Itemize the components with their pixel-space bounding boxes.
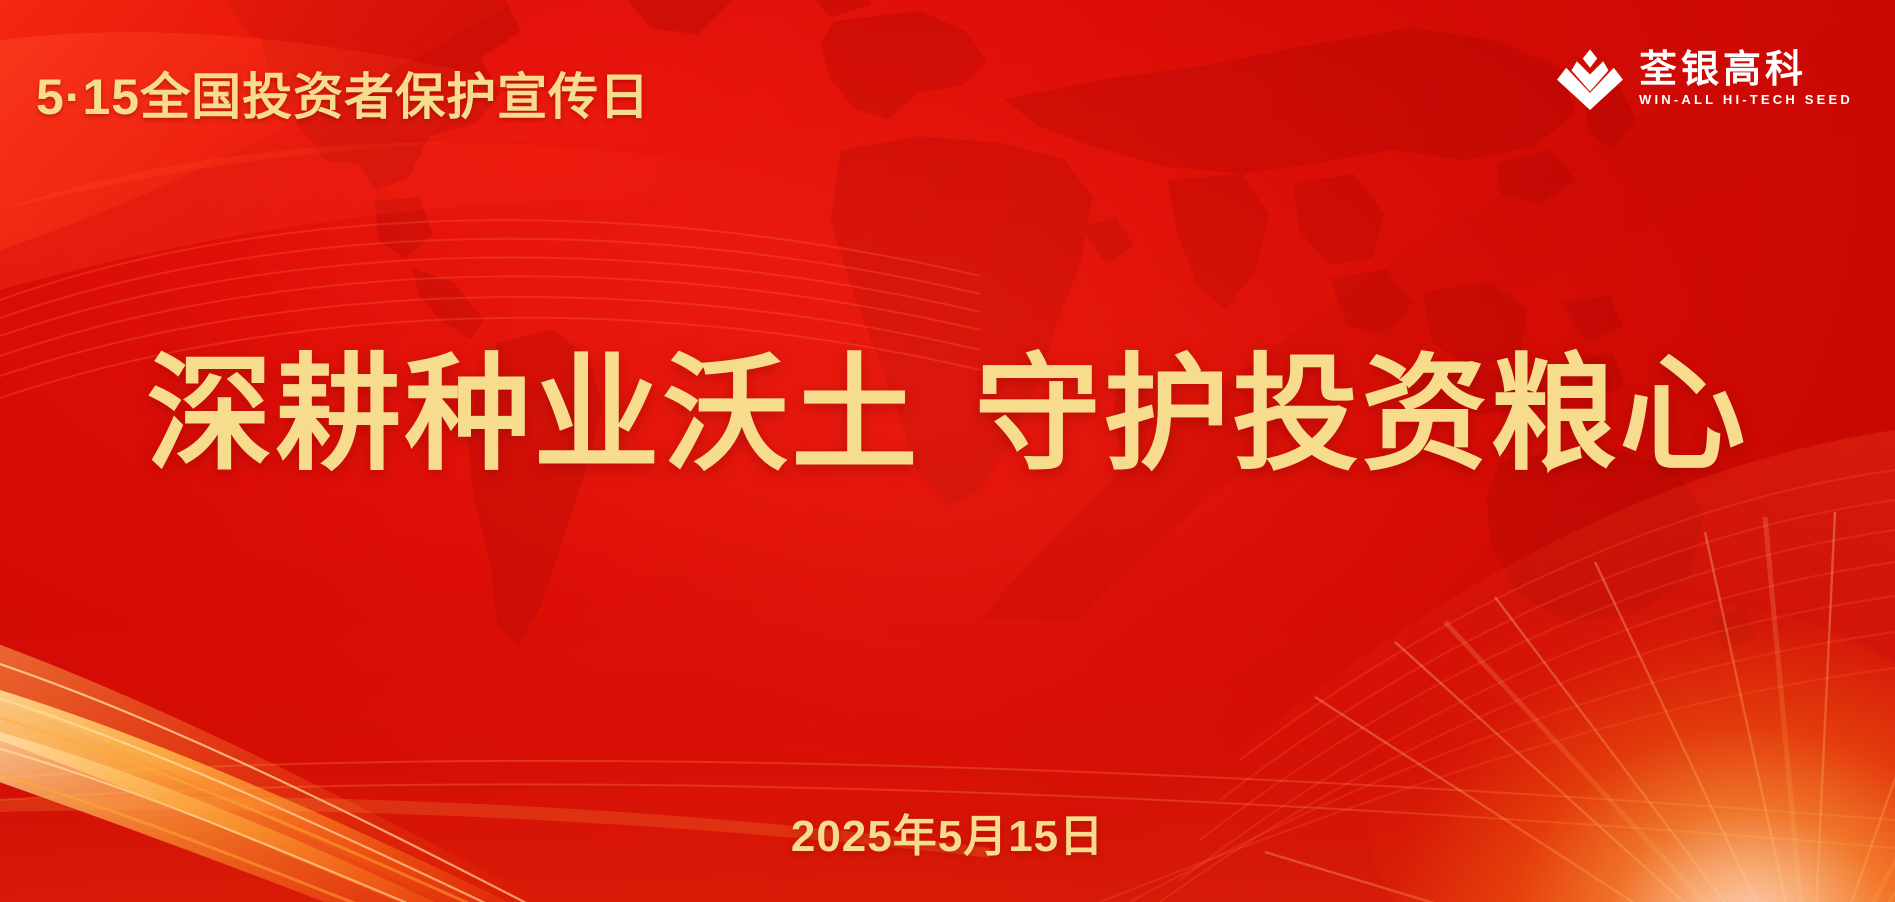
company-logo-text: 荃银高科 WIN-ALL HI-TECH SEED: [1639, 51, 1853, 107]
poster-content: 5·15全国投资者保护宣传日 荃银高科 WIN-ALL HI-TECH SEE: [0, 0, 1895, 902]
investor-protection-day-poster: 5·15全国投资者保护宣传日 荃银高科 WIN-ALL HI-TECH SEE: [0, 0, 1895, 902]
chevron-sprout-logo-icon: [1557, 48, 1623, 110]
headline-phrase-right: 守护投资粮心: [975, 344, 1749, 485]
main-headline: 深耕种业沃土守护投资粮心: [0, 352, 1895, 478]
headline-phrase-left: 深耕种业沃土: [147, 344, 921, 485]
event-date: 2025年5月15日: [0, 800, 1895, 864]
campaign-eyebrow-title: 5·15全国投资者保护宣传日: [36, 57, 650, 129]
company-name-cn: 荃银高科: [1639, 51, 1853, 91]
company-name-en: WIN-ALL HI-TECH SEED: [1639, 93, 1853, 107]
company-logo: 荃银高科 WIN-ALL HI-TECH SEED: [1557, 48, 1853, 110]
